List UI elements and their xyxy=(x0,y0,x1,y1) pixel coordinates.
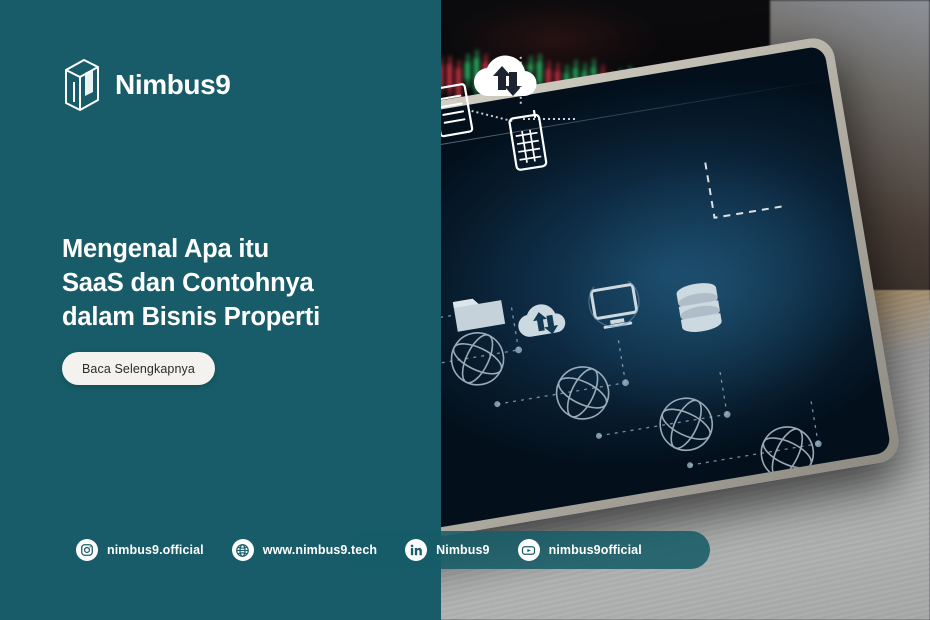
tablet-device xyxy=(425,35,902,545)
linkedin-icon xyxy=(405,539,427,561)
content-panel: Nimbus9 Mengenal Apa itu SaaS dan Contoh… xyxy=(0,0,441,620)
social-label: nimbus9official xyxy=(549,543,642,557)
tablet-screen xyxy=(425,45,892,534)
connector-line xyxy=(523,118,575,120)
social-bar: nimbus9.official www.nimbus9.tech Ni xyxy=(76,531,670,569)
headline-line-2: SaaS dan Contohnya xyxy=(62,266,392,300)
hero-photo: SAAS xyxy=(425,0,930,620)
mobile-phone-icon xyxy=(507,110,553,176)
isometric-building-logo-icon xyxy=(62,56,102,114)
page-title: Mengenal Apa itu SaaS dan Contohnya dala… xyxy=(62,232,392,334)
social-label: nimbus9.official xyxy=(107,543,204,557)
headline-line-3: dalam Bisnis Properti xyxy=(62,300,392,334)
connector-line xyxy=(520,57,522,105)
social-item-website[interactable]: www.nimbus9.tech xyxy=(232,539,377,561)
brand-name: Nimbus9 xyxy=(115,69,230,101)
social-item-linkedin[interactable]: Nimbus9 xyxy=(405,539,490,561)
read-more-button[interactable]: Baca Selengkapnya xyxy=(62,352,215,385)
social-label: www.nimbus9.tech xyxy=(263,543,377,557)
social-item-youtube[interactable]: nimbus9official xyxy=(518,539,642,561)
monitor-icon xyxy=(584,279,645,333)
social-label: Nimbus9 xyxy=(436,543,490,557)
instagram-icon xyxy=(76,539,98,561)
youtube-icon xyxy=(518,539,540,561)
promo-banner: SAAS xyxy=(0,0,930,620)
globe-icon xyxy=(232,539,254,561)
headline-line-1: Mengenal Apa itu xyxy=(62,232,392,266)
cloud-sync-icon xyxy=(469,50,547,102)
dashed-corner-marker xyxy=(699,146,790,230)
database-icon xyxy=(671,278,727,335)
folder-icon xyxy=(450,288,508,336)
social-item-instagram[interactable]: nimbus9.official xyxy=(76,539,204,561)
brand-logo[interactable]: Nimbus9 xyxy=(62,56,230,114)
